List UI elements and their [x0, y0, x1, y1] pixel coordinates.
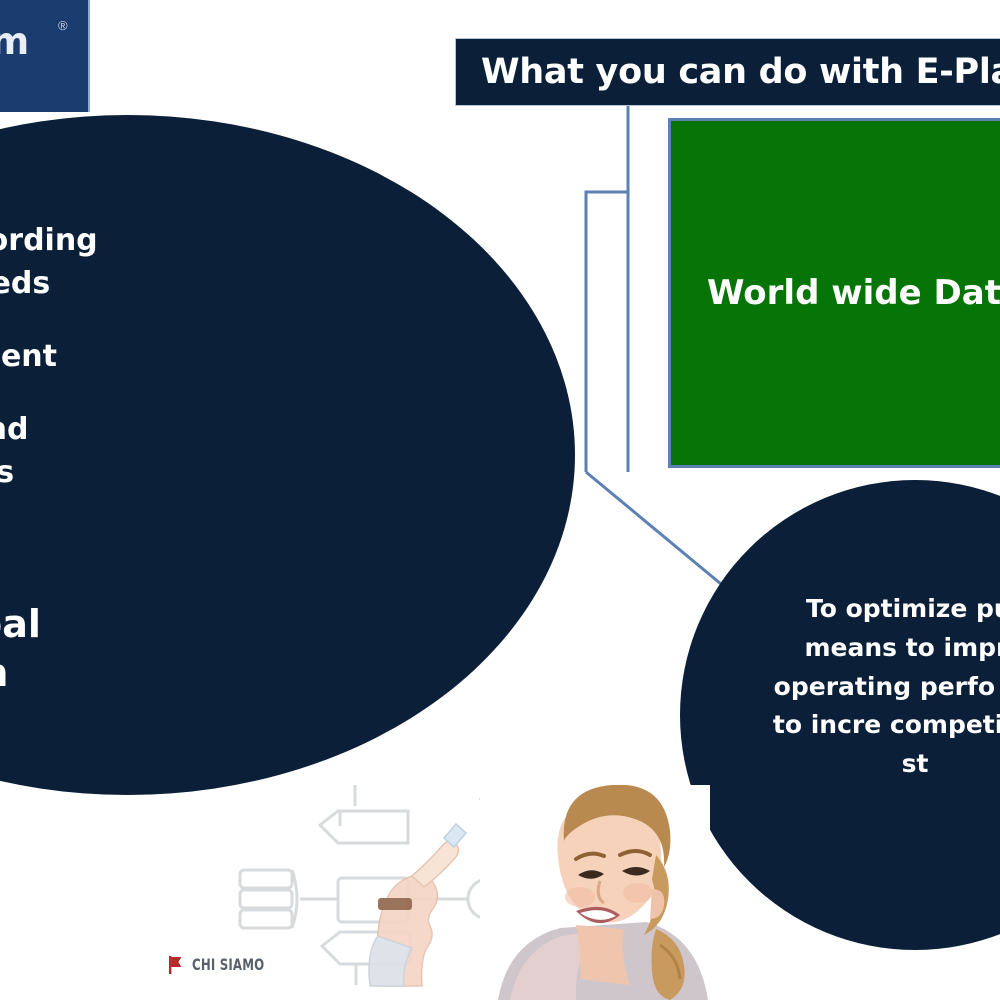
logo-wordmark: orm: [0, 20, 29, 63]
optimization-circle: To optimize pur means to impro operating…: [680, 480, 1000, 950]
benefits-headline: Improve global competition: [0, 600, 90, 699]
slide-title-banner: What you can do with E-Pla: [455, 38, 1000, 106]
benefits-circle: E-procurement according to the Company n…: [0, 115, 575, 795]
world-wide-database-label: World wide Dat: [707, 273, 1000, 313]
chi-siamo-caption[interactable]: CHI SIAMO: [168, 955, 280, 974]
red-flag-icon: [168, 956, 184, 974]
presentation-slide: orm ® hoice What you can do with E-Pla W…: [0, 0, 1000, 1000]
optimization-statement: To optimize pur means to impro operating…: [770, 590, 1000, 784]
benefits-list-item: E-procurement according to the Company n…: [0, 220, 100, 306]
smiling-woman-photo: [480, 785, 710, 1000]
benefits-list: E-procurement according to the Company n…: [0, 220, 100, 524]
world-wide-database-box: World wide Dat: [668, 118, 1000, 468]
benefits-list-item: Expand relations and generate economies: [0, 409, 100, 495]
registered-trademark-icon: ®: [58, 18, 68, 33]
benefits-list-item: Purchase Management: [0, 336, 100, 379]
slide-title: What you can do with E-Pla: [481, 52, 1000, 92]
benefits-circle-body: E-procurement according to the Company n…: [0, 115, 575, 795]
chi-siamo-label: CHI SIAMO: [192, 955, 264, 974]
brand-logo-plate: orm ® hoice: [0, 0, 90, 112]
